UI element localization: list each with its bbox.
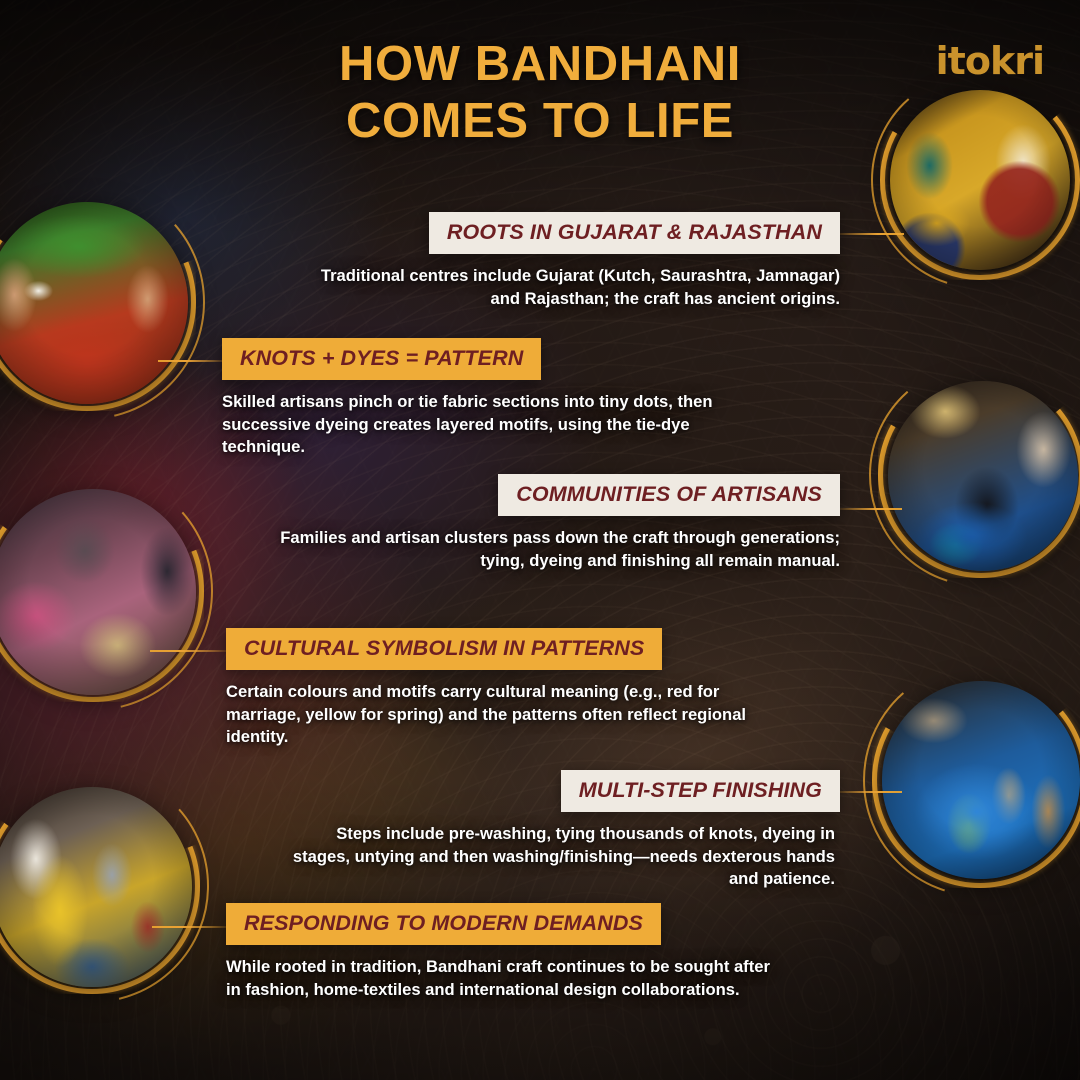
section-body-finishing: Steps include pre-washing, tying thousan…	[290, 823, 835, 891]
section-symbolism: CULTURAL SYMBOLISM IN PATTERNS Certain c…	[226, 628, 826, 749]
section-knots-dyes: KNOTS + DYES = PATTERN Skilled artisans …	[222, 338, 782, 459]
section-heading-modern-demands[interactable]: RESPONDING TO MODERN DEMANDS	[226, 903, 661, 945]
itokri-logo[interactable]: itokri	[916, 38, 1044, 84]
section-body-symbolism: Certain colours and motifs carry cultura…	[226, 681, 766, 749]
section-heading-symbolism[interactable]: CULTURAL SYMBOLISM IN PATTERNS	[226, 628, 662, 670]
section-communities: COMMUNITIES OF ARTISANS Families and art…	[280, 474, 840, 572]
section-finishing: MULTI-STEP FINISHING Steps include pre-w…	[290, 770, 840, 891]
connector-line-roots	[838, 233, 904, 235]
connector-line-finishing	[838, 791, 902, 793]
section-heading-finishing[interactable]: MULTI-STEP FINISHING	[561, 770, 840, 812]
connector-line-knots-dyes	[158, 360, 226, 362]
section-body-communities: Families and artisan clusters pass down …	[280, 527, 840, 572]
section-heading-knots-dyes[interactable]: KNOTS + DYES = PATTERN	[222, 338, 541, 380]
section-body-roots: Traditional centres include Gujarat (Kut…	[280, 265, 840, 310]
section-roots: ROOTS IN GUJARAT & RAJASTHAN Traditional…	[280, 212, 840, 310]
photo-woman-seated-tying	[0, 489, 196, 695]
photo-man-yellow-cloth	[0, 787, 192, 987]
section-modern-demands: RESPONDING TO MODERN DEMANDS While roote…	[226, 903, 826, 1001]
photo-dyer-blue-vat	[888, 381, 1078, 571]
photo-hands-tying-red-cloth	[0, 202, 188, 404]
connector-line-modern-demands	[152, 926, 228, 928]
connector-line-communities	[840, 508, 902, 510]
section-body-knots-dyes: Skilled artisans pinch or tie fabric sec…	[222, 391, 752, 459]
section-body-modern-demands: While rooted in tradition, Bandhani craf…	[226, 956, 776, 1001]
connector-line-symbolism	[150, 650, 228, 652]
infographic-canvas: HOW BANDHANI COMES TO LIFE itokri	[0, 0, 1080, 1080]
page-title-line-2: COMES TO LIFE	[0, 93, 1080, 150]
photo-dye-vat-closeup	[882, 681, 1080, 879]
section-heading-roots[interactable]: ROOTS IN GUJARAT & RAJASTHAN	[429, 212, 840, 254]
itokri-logo-text: itokri	[916, 38, 1044, 84]
section-heading-communities[interactable]: COMMUNITIES OF ARTISANS	[498, 474, 840, 516]
